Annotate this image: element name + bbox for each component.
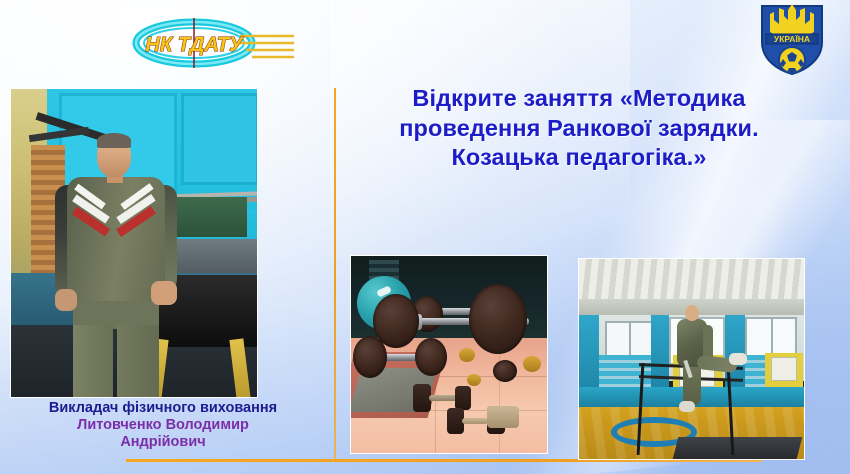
ukraine-football-federation-emblem: УКРАЇНА [756,2,828,76]
caption-line-name: Литовченко Володимир [0,417,326,434]
dumbbell-wood-block [487,406,519,428]
portrait-scene [11,89,257,397]
gold-weight-a [459,348,475,362]
nk-tdatu-logo: НК ТДАТУ [122,12,300,74]
weights-scene [351,256,547,453]
caption-line-role: Викладач фізичного виховання [0,400,326,417]
bars-blue-column-0 [579,315,599,393]
nk-tdatu-logo-text: НК ТДАТУ [145,34,244,56]
gold-weight-c [523,356,541,372]
teacher-caption: Викладач фізичного виховання Литовченко … [0,400,326,451]
floor-grid-line-4 [499,338,500,454]
vertical-divider-rule [334,88,336,460]
photo-parallel-bars-exercise [578,258,805,460]
slide-title: Відкрите заняття «Методика проведення Ра… [344,84,814,173]
photo-teacher-portrait [10,88,258,398]
barbell-plate-front-left [353,336,387,378]
caption-line-patronymic: Андрійович [0,434,326,451]
slide-title-line-2: проведення Ранкової зарядки. [344,114,814,144]
teacher-leg-right [117,325,159,398]
bars-scene [579,259,804,459]
photo-weights-equipment [350,255,548,454]
teacher-leg-left [73,325,113,398]
bars-landing-mat [672,437,802,460]
gold-weight-b [467,374,481,386]
dumbbell-handle-a [429,395,457,401]
bars-wall-poster-2 [771,357,797,381]
athlete-head [685,305,699,321]
gym-door-right [181,93,258,185]
teacher-hand-left [55,289,77,311]
athlete-shoe-lower [679,401,695,412]
barbell-plate-main-right [469,284,527,354]
teacher-hair [97,133,131,148]
dumbbell-handle-b [462,418,488,424]
slide-title-line-1: Відкрите заняття «Методика [344,84,814,114]
emblem-country-text: УКРАЇНА [774,34,810,44]
teacher-hand-right [151,281,177,305]
athlete-shoe-forward [729,353,747,365]
small-plate-right [493,360,517,382]
barbell-plate-front-right [415,338,447,376]
slide-title-line-3: Козацька педагогіка.» [344,143,814,173]
